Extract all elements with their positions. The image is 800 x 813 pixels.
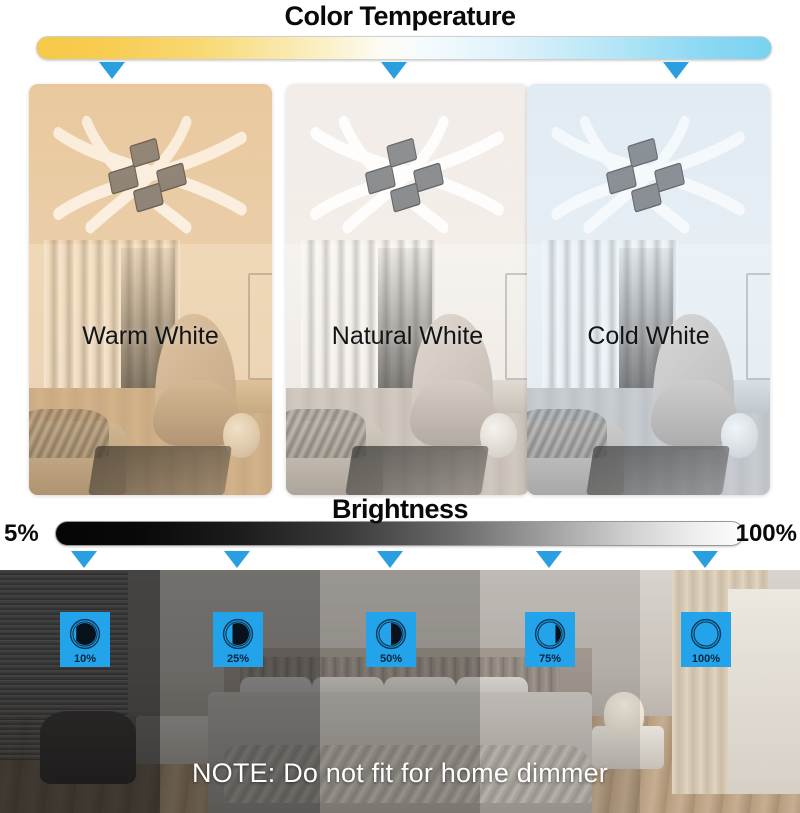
brightness-dial-icon (373, 616, 409, 652)
brightness-badge-label: 50% (380, 653, 402, 666)
shelf (233, 380, 272, 413)
dimmer-note: NOTE: Do not fit for home dimmer (0, 758, 800, 789)
brightness-pointer-75 (536, 551, 562, 568)
bedroom-dimming-scene: NOTE: Do not fit for home dimmer (0, 570, 800, 813)
room-scene-natural (286, 84, 529, 495)
ceiling-light-fixture (301, 113, 515, 236)
brightness-badge-label: 10% (74, 653, 96, 666)
color-temperature-pointer-cold (663, 62, 689, 79)
color-temperature-panel-natural: Natural White (286, 84, 529, 495)
brightness-dial-icon (220, 616, 256, 652)
brightness-dial-icon (688, 616, 724, 652)
color-temperature-label-cold: Cold White (527, 322, 770, 351)
color-temperature-label-natural: Natural White (286, 322, 529, 351)
coffee-table (88, 446, 232, 495)
ceiling-light-fixture (44, 113, 258, 236)
infographic-page: Color Temperature (0, 0, 800, 813)
color-temperature-title: Color Temperature (0, 0, 800, 32)
brightness-pointer-25 (224, 551, 250, 568)
color-temperature-gradient-bar (36, 36, 772, 60)
bedroom-table-lamp (604, 692, 644, 736)
ceiling-light-fixture (542, 113, 756, 236)
color-temperature-pointer-natural (381, 62, 407, 79)
brightness-max-label: 100% (736, 522, 797, 546)
brightness-dial-icon (67, 616, 103, 652)
brightness-pointer-10 (71, 551, 97, 568)
color-temperature-panel-cold: Cold White (527, 84, 770, 495)
brightness-badge-25: 25% (213, 612, 263, 667)
brightness-badge-label: 25% (227, 653, 249, 666)
brightness-badge-label: 75% (539, 653, 561, 666)
brightness-pointer-100 (692, 551, 718, 568)
color-temperature-label-warm: Warm White (29, 322, 272, 351)
brightness-pointer-50 (377, 551, 403, 568)
brightness-dial-icon (532, 616, 568, 652)
color-temperature-panels: Warm White (0, 84, 800, 495)
room-scene-warm (29, 84, 272, 495)
color-temperature-panel-warm: Warm White (29, 84, 272, 495)
brightness-badge-75: 75% (525, 612, 575, 667)
coffee-table (345, 446, 489, 495)
brightness-badge-50: 50% (366, 612, 416, 667)
brightness-min-label: 5% (4, 522, 39, 546)
brightness-badge-100: 100% (681, 612, 731, 667)
color-temperature-pointer-warm (99, 62, 125, 79)
brightness-badge-10: 10% (60, 612, 110, 667)
shelf (490, 380, 529, 413)
brightness-title: Brightness (0, 493, 800, 525)
brightness-badge-label: 100% (692, 653, 720, 666)
shelf (731, 380, 770, 413)
coffee-table (586, 446, 730, 495)
room-scene-cold (527, 84, 770, 495)
